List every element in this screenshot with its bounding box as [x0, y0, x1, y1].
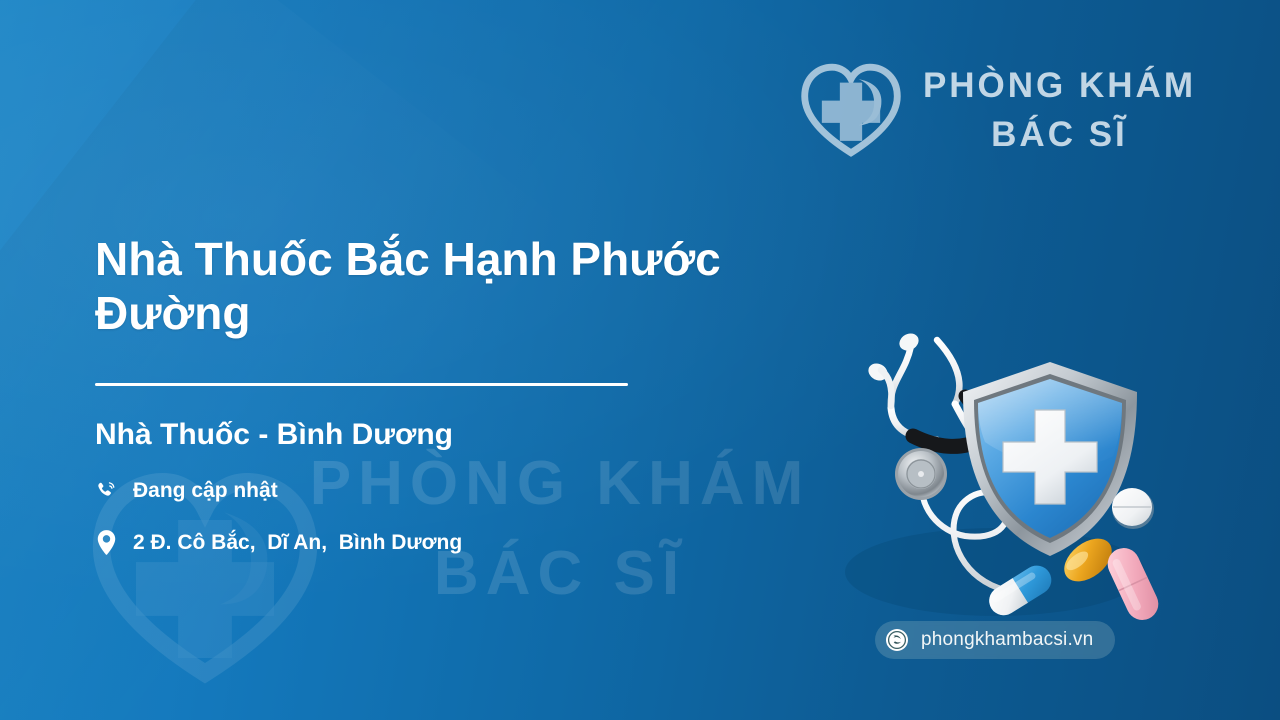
- website-url: phongkhambacsi.vn: [921, 629, 1093, 651]
- white-round-tablet: [1112, 488, 1154, 529]
- brand-text: PHÒNG KHÁM BÁC SĨ: [923, 68, 1196, 152]
- globe-swoosh-icon: [885, 628, 909, 652]
- phone-row[interactable]: Đang cập nhật: [95, 478, 865, 504]
- shield-with-cross: [963, 362, 1137, 556]
- brand-line-1: PHÒNG KHÁM: [923, 68, 1196, 103]
- brand-logo: PHÒNG KHÁM BÁC SĨ: [799, 62, 1196, 158]
- heart-cross-logo-icon: [799, 62, 903, 158]
- stethoscope-earpieces: [865, 330, 921, 406]
- category-location: Nhà Thuốc - Bình Dương: [95, 418, 865, 452]
- phone-value: Đang cập nhật: [133, 479, 278, 503]
- map-pin-icon: [95, 530, 117, 556]
- medical-shield-stethoscope-pills-illustration: [845, 322, 1165, 622]
- listing-content: Nhà Thuốc Bắc Hạnh Phước Đường Nhà Thuốc…: [95, 232, 865, 556]
- title-divider: [95, 383, 628, 386]
- stethoscope-chestpiece: [895, 448, 947, 500]
- phone-ringing-icon: [95, 478, 117, 504]
- website-badge[interactable]: phongkhambacsi.vn: [875, 621, 1115, 659]
- address-row[interactable]: 2 Đ. Cô Bắc, Dĩ An, Bình Dương: [95, 530, 865, 556]
- brand-line-2: BÁC SĨ: [923, 117, 1196, 152]
- promo-banner: PHÒNG KHÁM BÁC SĨ PHÒNG KHÁM BÁC SĨ Nhà …: [0, 0, 1280, 720]
- page-title: Nhà Thuốc Bắc Hạnh Phước Đường: [95, 232, 865, 341]
- address-value: 2 Đ. Cô Bắc, Dĩ An, Bình Dương: [133, 531, 462, 555]
